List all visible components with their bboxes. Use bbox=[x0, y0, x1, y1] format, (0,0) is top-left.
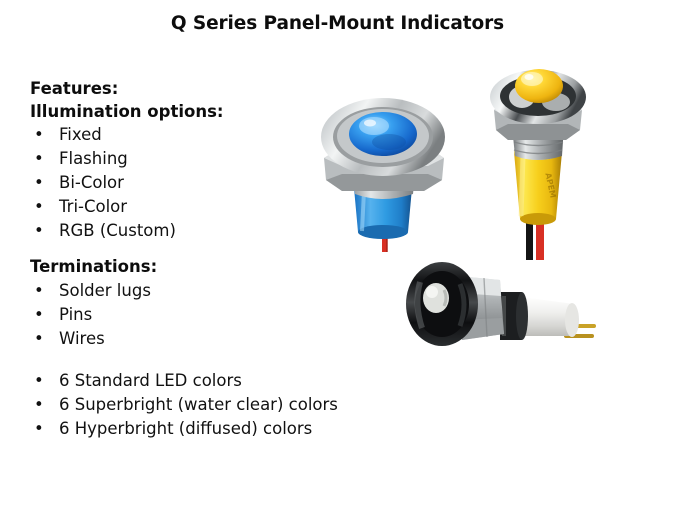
black-bezel-panel-indicator-image bbox=[396, 248, 611, 364]
bullet-icon: • bbox=[34, 147, 44, 171]
list-item-label: 6 Superbright (water clear) colors bbox=[59, 395, 338, 414]
list-item-label: Pins bbox=[59, 305, 92, 324]
list-item-label: 6 Standard LED colors bbox=[59, 371, 242, 390]
list-item: • 6 Superbright (water clear) colors bbox=[30, 393, 350, 417]
list-item: • Solder lugs bbox=[30, 279, 350, 303]
list-item: • 6 Hyperbright (diffused) colors bbox=[30, 417, 350, 441]
list-item-label: Bi-Color bbox=[59, 173, 124, 192]
page-title: Q Series Panel-Mount Indicators bbox=[0, 13, 675, 34]
list-item-label: Fixed bbox=[59, 125, 102, 144]
bullet-icon: • bbox=[34, 123, 44, 147]
bullet-icon: • bbox=[34, 279, 44, 303]
list-item-label: 6 Hyperbright (diffused) colors bbox=[59, 419, 312, 438]
list-item-label: Flashing bbox=[59, 149, 128, 168]
slide-canvas: Q Series Panel-Mount Indicators Features… bbox=[0, 0, 675, 506]
bullet-icon: • bbox=[34, 303, 44, 327]
bullet-icon: • bbox=[34, 327, 44, 351]
color-options-list: • 6 Standard LED colors • 6 Superbright … bbox=[30, 369, 350, 441]
terminations-list: • Solder lugs • Pins • Wires bbox=[30, 279, 350, 351]
blue-led-panel-indicator-image bbox=[296, 92, 466, 252]
list-item-label: Solder lugs bbox=[59, 281, 151, 300]
bullet-icon: • bbox=[34, 219, 44, 243]
yellow-led-panel-indicator-image: APEM bbox=[468, 64, 608, 264]
list-item-label: RGB (Custom) bbox=[59, 221, 176, 240]
bullet-icon: • bbox=[34, 393, 44, 417]
bullet-icon: • bbox=[34, 369, 44, 393]
list-item-label: Tri-Color bbox=[59, 197, 127, 216]
list-item: • Wires bbox=[30, 327, 350, 351]
bullet-icon: • bbox=[34, 171, 44, 195]
terminations-heading: Terminations: bbox=[30, 256, 350, 279]
list-spacer bbox=[30, 351, 350, 369]
bullet-icon: • bbox=[34, 417, 44, 441]
list-item: • Pins bbox=[30, 303, 350, 327]
list-item: • 6 Standard LED colors bbox=[30, 369, 350, 393]
list-item-label: Wires bbox=[59, 329, 105, 348]
bullet-icon: • bbox=[34, 195, 44, 219]
